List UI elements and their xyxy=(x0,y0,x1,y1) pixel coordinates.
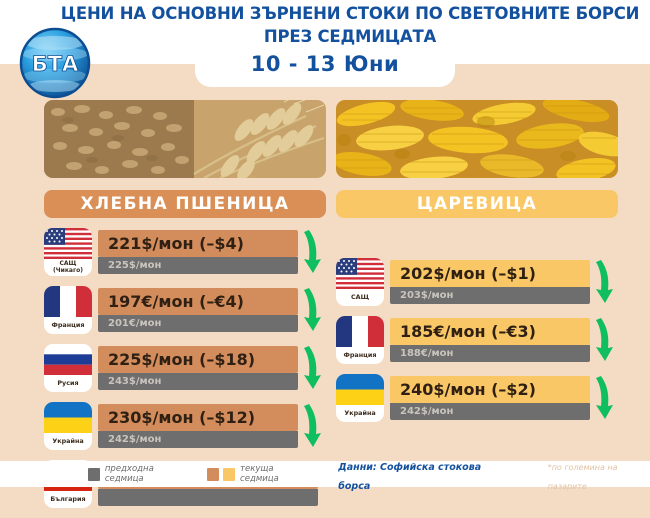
current-price: 221$/мон (–$4) xyxy=(98,230,298,257)
price-bars: 197€/мон (–€4) 201€/мон xyxy=(98,288,298,332)
flag-france-icon xyxy=(44,286,92,317)
flag-label: Франция xyxy=(336,347,384,364)
flag-ukraine: Украйна xyxy=(336,374,384,422)
current-price: 240$/мон (–$2) xyxy=(390,376,590,403)
previous-price: 188€/мон xyxy=(390,345,590,362)
table-row: Украйна 230$/мон (–$12) 242$/мон xyxy=(44,402,326,450)
country-name: Русия xyxy=(57,380,78,387)
date-range: 10 - 13 Юни xyxy=(195,52,455,76)
footer-legend: предходна седмица текуща седмица Данни: … xyxy=(0,461,650,487)
previous-price: 242$/мон xyxy=(98,431,298,448)
infographic-page: ЦЕНИ НА ОСНОВНИ ЗЪРНЕНИ СТОКИ ПО СВЕТОВН… xyxy=(0,0,650,487)
arrow-down-green xyxy=(300,228,326,276)
previous-price: 201€/мон xyxy=(98,315,298,332)
flag-usa: САЩ (Чикаго) xyxy=(44,228,92,276)
price-bars: 240$/мон (–$2) 242$/мон xyxy=(390,376,590,420)
previous-price: 243$/мон xyxy=(98,373,298,390)
flag-label: Русия xyxy=(44,375,92,392)
table-row: Украйна 240$/мон (–$2) 242$/мон xyxy=(336,374,618,422)
previous-price: 242$/мон xyxy=(390,403,590,420)
previous-price: 203$/мон xyxy=(390,287,590,304)
flag-label: Франция xyxy=(44,317,92,334)
flag-label: Украйна xyxy=(336,405,384,422)
category-title-wheat: ХЛЕБНА ПШЕНИЦА xyxy=(44,190,326,218)
category-title-corn: ЦАРЕВИЦА xyxy=(336,190,618,218)
flag-usa-icon xyxy=(44,228,92,259)
logo-text: БТА xyxy=(32,52,79,76)
legend-swatch-previous-icon xyxy=(88,468,100,481)
price-bars: 185€/мон (–€3) 188€/мон xyxy=(390,318,590,362)
flag-ukraine: Украйна xyxy=(44,402,92,450)
bta-globe-logo: БТА xyxy=(18,26,92,100)
table-row: САЩ 202$/мон (–$1) 203$/мон xyxy=(336,258,618,306)
legend-swatch-current-wheat-icon xyxy=(207,468,219,481)
arrow-down-green xyxy=(300,286,326,334)
corn-cobs-photo xyxy=(336,100,618,178)
country-name: Украйна xyxy=(344,410,375,417)
country-sub: (Чикаго) xyxy=(53,268,83,275)
arrow-down-green xyxy=(592,374,618,422)
page-title-line1: ЦЕНИ НА ОСНОВНИ ЗЪРНЕНИ СТОКИ ПО СВЕТОВН… xyxy=(60,4,640,23)
previous-price xyxy=(98,489,318,506)
current-price: 197€/мон (–€4) xyxy=(98,288,298,315)
page-title-line2: ПРЕЗ СЕДМИЦАТА xyxy=(60,27,640,46)
flag-ukraine-icon xyxy=(336,374,384,405)
table-row: Франция 185€/мон (–€3) 188€/мон xyxy=(336,316,618,364)
legend-label-current: текуща седмица xyxy=(240,464,308,484)
wheat-grain-photo xyxy=(44,100,326,178)
flag-russia-icon xyxy=(44,344,92,375)
data-source: Данни: Софийска стокова борса xyxy=(338,455,501,493)
arrow-down-green xyxy=(592,316,618,364)
flag-france-icon xyxy=(336,316,384,347)
flag-label: САЩ (Чикаго) xyxy=(44,259,92,276)
country-name: Франция xyxy=(52,322,85,329)
table-row: Франция 197€/мон (–€4) 201€/мон xyxy=(44,286,326,334)
footnote: *по големина на пазарите xyxy=(548,455,650,493)
price-bars: 221$/мон (–$4) 225$/мон xyxy=(98,230,298,274)
arrow-down-green xyxy=(300,344,326,392)
arrow-down-green xyxy=(592,258,618,306)
flag-france: Франция xyxy=(336,316,384,364)
country-name: САЩ xyxy=(351,294,369,301)
current-price: 185€/мон (–€3) xyxy=(390,318,590,345)
price-bars: 202$/мон (–$1) 203$/мон xyxy=(390,260,590,304)
country-name: Франция xyxy=(344,352,377,359)
table-row: Русия 225$/мон (–$18) 243$/мон xyxy=(44,344,326,392)
country-name: България xyxy=(50,496,85,503)
legend-current: текуща седмица xyxy=(207,464,308,484)
corn-rows: САЩ 202$/мон (–$1) 203$/мон xyxy=(336,258,618,432)
current-price: 202$/мон (–$1) xyxy=(390,260,590,287)
flag-ukraine-icon xyxy=(44,402,92,433)
flag-label: САЩ xyxy=(336,289,384,306)
column-corn: ЦАРЕВИЦА xyxy=(336,100,618,178)
flag-russia: Русия xyxy=(44,344,92,392)
current-price: 225$/мон (–$18) xyxy=(98,346,298,373)
price-bars: 230$/мон (–$12) 242$/мон xyxy=(98,404,298,448)
legend-label-previous: предходна седмица xyxy=(105,464,188,484)
flag-label: България xyxy=(44,491,92,508)
flag-usa-icon xyxy=(336,258,384,289)
price-bars: 225$/мон (–$18) 243$/мон xyxy=(98,346,298,390)
country-name: Украйна xyxy=(52,438,83,445)
previous-price: 225$/мон xyxy=(98,257,298,274)
flag-usa: САЩ xyxy=(336,258,384,306)
flag-label: Украйна xyxy=(44,433,92,450)
current-price: 230$/мон (–$12) xyxy=(98,404,298,431)
flag-france: Франция xyxy=(44,286,92,334)
table-row: САЩ (Чикаго) 221$/мон (–$4) 225$/мон xyxy=(44,228,326,276)
legend-previous: предходна седмица xyxy=(88,464,187,484)
column-wheat: ХЛЕБНА ПШЕНИЦА xyxy=(44,100,326,178)
legend-swatch-current-corn-icon xyxy=(223,468,235,481)
arrow-down-green xyxy=(300,402,326,450)
